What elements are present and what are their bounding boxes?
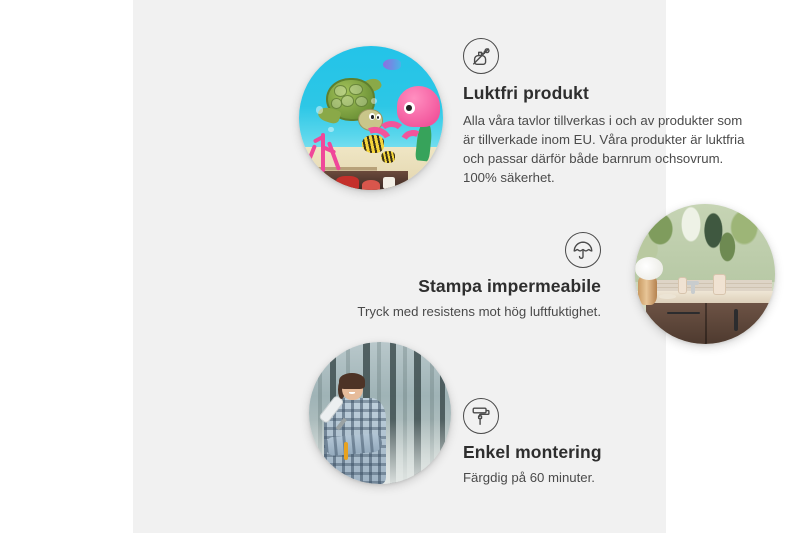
- umbrella-icon: [565, 232, 601, 268]
- image-ocean-mural[interactable]: [299, 46, 443, 190]
- feature-title: Luktfri produkt: [463, 83, 755, 105]
- screenshot-root: Luktfri produkt Alla våra tavlor tillver…: [0, 0, 800, 533]
- soap-bottle-2: [678, 277, 686, 294]
- ocean-artwork: [299, 46, 443, 190]
- ocean-coral: [305, 127, 348, 176]
- fish-blue: [383, 59, 402, 71]
- ocean-white-object: [383, 177, 396, 189]
- fish-yellow-1: [362, 135, 384, 152]
- flower-vase: [638, 277, 658, 305]
- soap-dish: [659, 294, 676, 300]
- feature-title: Stampa impermeabile: [351, 276, 601, 298]
- octopus-head: [397, 86, 440, 126]
- paint-roller-icon: [463, 398, 499, 434]
- vanity-cabinet: [646, 303, 775, 344]
- faucet-body: [691, 281, 695, 294]
- feature-title: Enkel montering: [463, 442, 713, 464]
- feature-description: Tryck med resistens mot hög luftfuktighe…: [351, 302, 601, 321]
- drawer-handle: [667, 312, 700, 314]
- content-panel: Luktfri produkt Alla våra tavlor tillver…: [133, 0, 666, 533]
- feature-easy-mounting: Enkel montering Färgdig på 60 minuter.: [463, 398, 713, 487]
- feature-description: Färgdig på 60 minuter.: [463, 468, 713, 487]
- image-bathroom-mural[interactable]: [635, 204, 775, 344]
- soap-bottle-1: [713, 274, 726, 295]
- white-flowers: [635, 257, 663, 279]
- bubble-3: [371, 98, 377, 104]
- feature-description: Alla våra tavlor tillverkas i och av pro…: [463, 111, 755, 188]
- paint-brush-prop: [344, 442, 348, 460]
- door-handle: [734, 309, 738, 331]
- feature-waterproof: Stampa impermeabile Tryck med resistens …: [351, 232, 601, 321]
- feature-odourless: Luktfri produkt Alla våra tavlor tillver…: [463, 38, 755, 187]
- hair-top: [339, 373, 364, 389]
- ocean-red-object-2: [362, 180, 379, 190]
- fish-yellow-2: [381, 151, 395, 163]
- woman-with-roller: [320, 373, 400, 484]
- forest-artwork: [309, 342, 451, 484]
- image-forest-mural[interactable]: [309, 342, 451, 484]
- ocean-red-object: [336, 176, 359, 189]
- bubble-2: [328, 127, 334, 133]
- no-fragrance-spray-bottle-icon: [463, 38, 499, 74]
- bathroom-artwork: [635, 204, 775, 344]
